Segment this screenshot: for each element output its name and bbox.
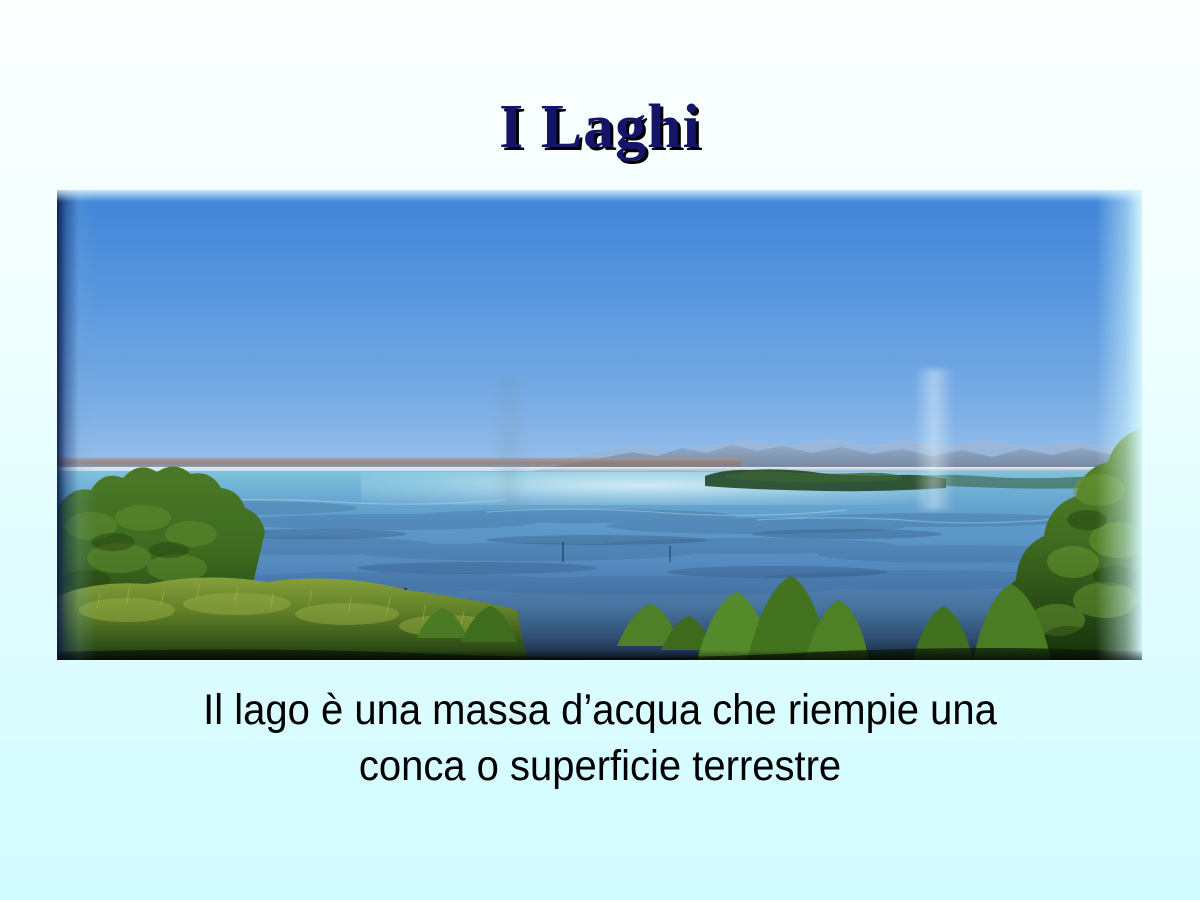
photo-vignette-top [57,190,1142,202]
lake-panorama-photo [57,190,1142,660]
photo-vignette-bottom [57,650,1142,660]
foreground-vegetation-layer [57,190,1142,660]
caption-line-2: conca o superficie terrestre [135,738,1065,794]
scan-streak-left [491,378,527,510]
slide-canvas: I Laghi [0,0,1200,900]
caption-text: Il lago è una massa d’acqua che riempie … [135,682,1065,794]
photo-vignette-left [57,190,97,660]
photo-vignette-right [1096,190,1142,660]
caption-line-1: Il lago è una massa d’acqua che riempie … [135,682,1065,738]
scan-streak-right [914,369,954,510]
page-title: I Laghi [0,92,1200,162]
